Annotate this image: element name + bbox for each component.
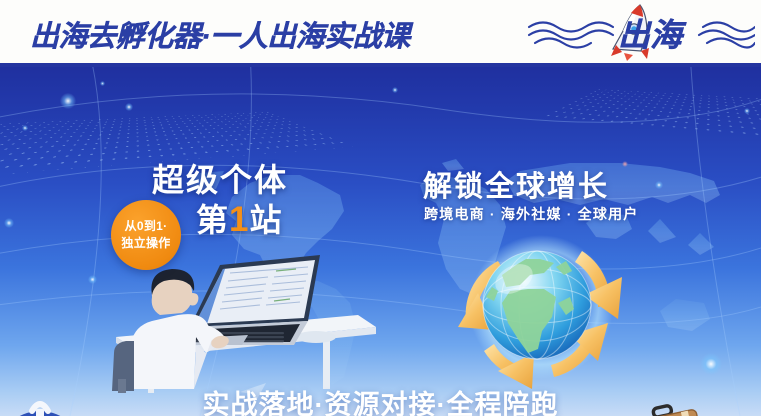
station-prefix: 第 xyxy=(196,202,229,238)
wave-lines-left-icon xyxy=(529,23,613,48)
headline-first-station: 第1站 xyxy=(196,195,283,241)
badge-line-2: 独立操作 xyxy=(121,235,170,252)
badge-line-1: 从0到1· xyxy=(125,218,168,235)
subheadline-channels: 跨境电商 · 海外社媒 · 全球用户 xyxy=(424,204,638,224)
compass-icon xyxy=(0,393,104,416)
station-number: 1 xyxy=(229,200,249,239)
wave-lines-right-icon xyxy=(699,23,755,48)
globe-with-arrows-illustration xyxy=(432,231,650,391)
headline-unlock-growth: 解锁全球增长 xyxy=(423,163,609,205)
poster-body: 超级个体 第1站 从0到1· 独立操作 解锁全球增长 跨境电商 · 海外社媒 ·… xyxy=(0,63,761,416)
header-divider xyxy=(0,63,761,67)
promo-poster: 出海去孵化器·一人出海实战课 出海 xyxy=(0,0,761,416)
page-title: 出海去孵化器·一人出海实战课 xyxy=(30,13,410,55)
poster-header: 出海去孵化器·一人出海实战课 出海 xyxy=(0,0,761,63)
brand-name: 出海 xyxy=(618,10,682,56)
suitcase-icon xyxy=(630,401,708,416)
station-suffix: 站 xyxy=(249,202,282,238)
zero-to-one-badge: 从0到1· 独立操作 xyxy=(111,200,181,270)
